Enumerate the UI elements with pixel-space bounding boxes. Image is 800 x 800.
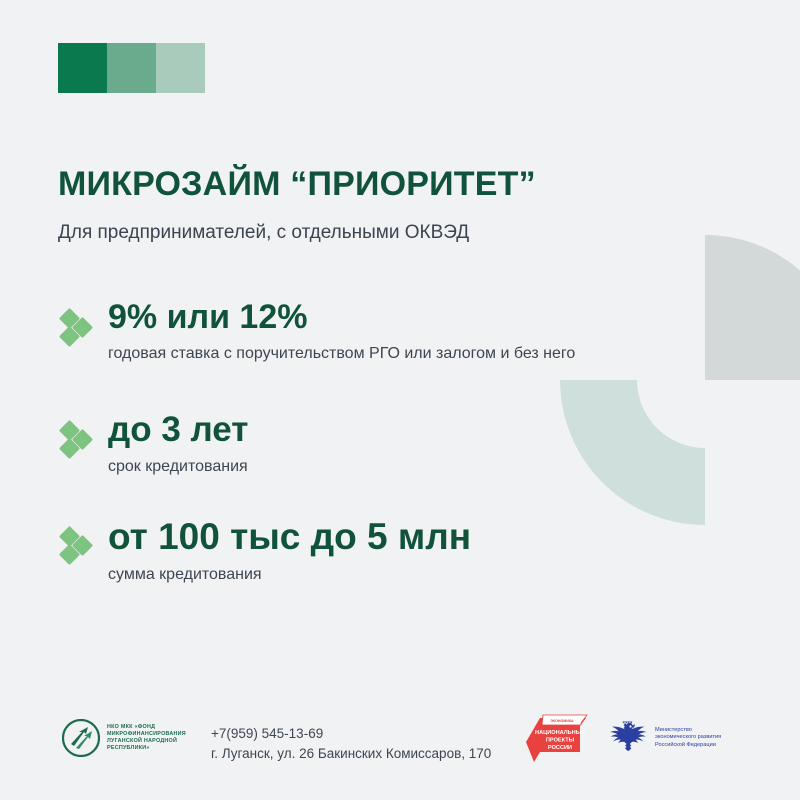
decorative-ring-graphic xyxy=(560,235,800,525)
phone-number: +7(959) 545-13-69 xyxy=(211,724,491,744)
ministry-name-line: экономического развития xyxy=(655,734,721,742)
ministry-logo: Министерство экономического развития Рос… xyxy=(606,718,721,758)
page-subtitle: Для предпринимателей, с отдельными ОКВЭД xyxy=(58,222,469,244)
swatch-mid-green xyxy=(107,43,156,93)
feature-caption: сумма кредитования xyxy=(108,566,471,584)
feature-item-term: до 3 лет срок кредитования xyxy=(58,412,248,476)
double-headed-eagle-icon xyxy=(606,718,648,758)
feature-item-rate: 9% или 12% годовая ставка с поручительст… xyxy=(58,300,575,363)
svg-text:ПРОЕКТЫ: ПРОЕКТЫ xyxy=(546,738,575,744)
diamond-cluster-icon xyxy=(58,524,100,570)
fund-name-line: РЕСПУБЛИКИ» xyxy=(107,745,186,752)
svg-text:РОССИИ: РОССИИ xyxy=(548,745,572,751)
brand-swatch-strip xyxy=(58,43,205,93)
address: г. Луганск, ул. 26 Бакинских Комиссаров,… xyxy=(211,744,491,764)
svg-text:НАЦИОНАЛЬНЫЕ: НАЦИОНАЛЬНЫЕ xyxy=(535,730,585,736)
ministry-name-line: Российской Федерации xyxy=(655,742,721,750)
national-projects-logo-icon: ЭКОНОМИКА НАЦИОНАЛЬНЫЕ ПРОЕКТЫ РОССИИ xyxy=(526,712,588,764)
fund-logo: НКО МКК «ФОНД МИКРОФИНАНСИРОВАНИЯ ЛУГАНС… xyxy=(62,719,186,757)
ministry-name-line: Министерство xyxy=(655,727,721,735)
feature-item-amount: от 100 тыс до 5 млн сумма кредитования xyxy=(58,518,471,584)
feature-value: до 3 лет xyxy=(108,412,248,449)
fund-name-line: ЛУГАНСКОЙ НАРОДНОЙ xyxy=(107,738,186,745)
poster-canvas: МИКРОЗАЙМ “ПРИОРИТЕТ” Для предпринимател… xyxy=(0,0,800,800)
fund-emblem-icon xyxy=(62,719,100,757)
feature-caption: годовая ставка с поручительством РГО или… xyxy=(108,345,575,363)
diamond-cluster-icon xyxy=(58,306,100,352)
svg-text:ЭКОНОМИКА: ЭКОНОМИКА xyxy=(550,719,574,723)
feature-value: от 100 тыс до 5 млн xyxy=(108,518,471,557)
diamond-cluster-icon xyxy=(58,418,100,464)
fund-name-line: НКО МКК «ФОНД xyxy=(107,724,186,731)
feature-caption: срок кредитования xyxy=(108,458,248,476)
page-title: МИКРОЗАЙМ “ПРИОРИТЕТ” xyxy=(58,165,536,204)
fund-name-line: МИКРОФИНАНСИРОВАНИЯ xyxy=(107,731,186,738)
contact-info: +7(959) 545-13-69 г. Луганск, ул. 26 Бак… xyxy=(211,724,491,764)
swatch-dark-green xyxy=(58,43,107,93)
feature-value: 9% или 12% xyxy=(108,300,575,336)
swatch-light-green xyxy=(156,43,205,93)
